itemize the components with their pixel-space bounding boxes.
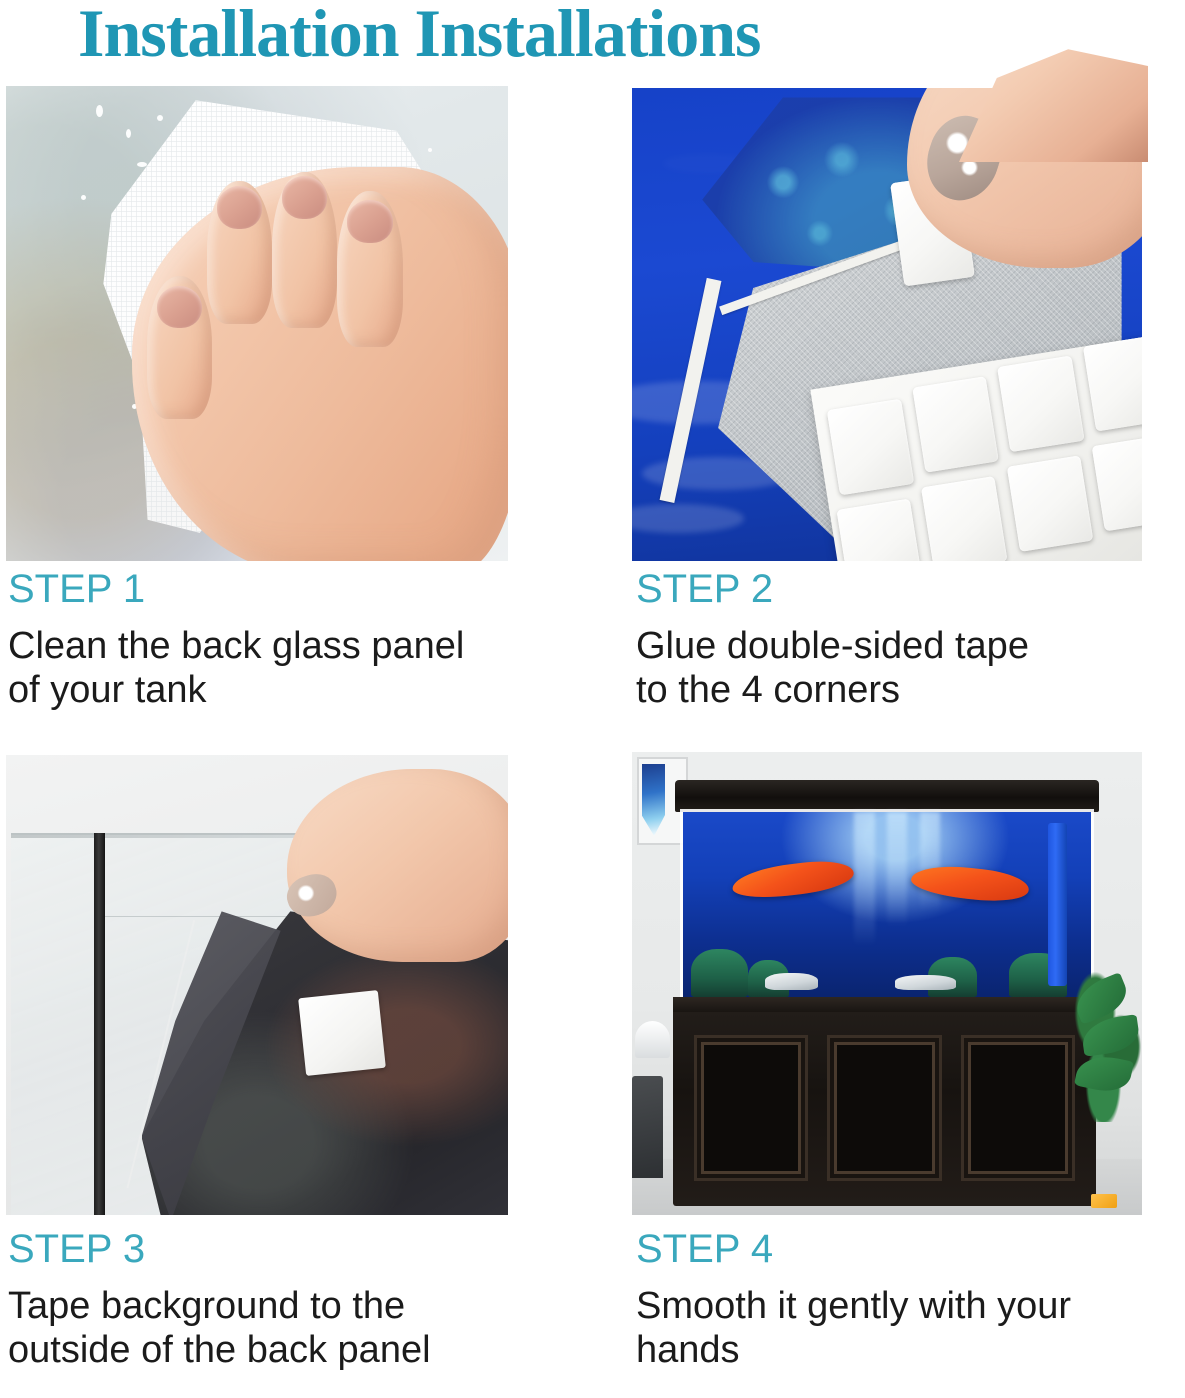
step-4-caption: STEP 4 Smooth it gently with your hands [636, 1228, 1176, 1373]
adhesive-pad [298, 990, 386, 1076]
step-1-text: Clean the back glass panel of your tank [8, 624, 568, 713]
step-4-label: STEP 4 [636, 1228, 1176, 1270]
step-4-image [632, 752, 1142, 1215]
cabinet-door [694, 1035, 808, 1181]
tank-hood [675, 780, 1098, 812]
photo-tape-to-tank [6, 755, 508, 1215]
step-3-label: STEP 3 [8, 1228, 568, 1270]
cabinet-door [961, 1035, 1075, 1181]
side-object [632, 1076, 663, 1178]
photo-clean-glass [6, 86, 508, 561]
step-3-text: Tape background to the outside of the ba… [8, 1284, 568, 1373]
step-3-image [6, 755, 508, 1215]
hand [287, 769, 508, 962]
aquarium-tank [683, 812, 1091, 997]
orange-object [1091, 1194, 1117, 1208]
cabinet-stand [673, 997, 1096, 1205]
blue-tube [1048, 823, 1067, 986]
house-plant [1071, 965, 1142, 1122]
cabinet-door [827, 1035, 941, 1181]
step-2-text: Glue double-sided tape to the 4 corners [636, 624, 1176, 713]
tank-corner-trim [94, 833, 105, 1215]
step-2-label: STEP 2 [636, 568, 1176, 610]
step-1-caption: STEP 1 Clean the back glass panel of you… [8, 568, 568, 713]
step-4-text: Smooth it gently with your hands [636, 1284, 1176, 1373]
steps-grid: STEP 1 Clean the back glass panel of you… [0, 0, 1185, 1398]
side-decor [635, 1021, 671, 1058]
step-2-caption: STEP 2 Glue double-sided tape to the 4 c… [636, 568, 1176, 713]
step-3-caption: STEP 3 Tape background to the outside of… [8, 1228, 568, 1373]
photo-finished-tank [632, 752, 1142, 1215]
step-1-image [6, 86, 508, 561]
step-1-label: STEP 1 [8, 568, 568, 610]
